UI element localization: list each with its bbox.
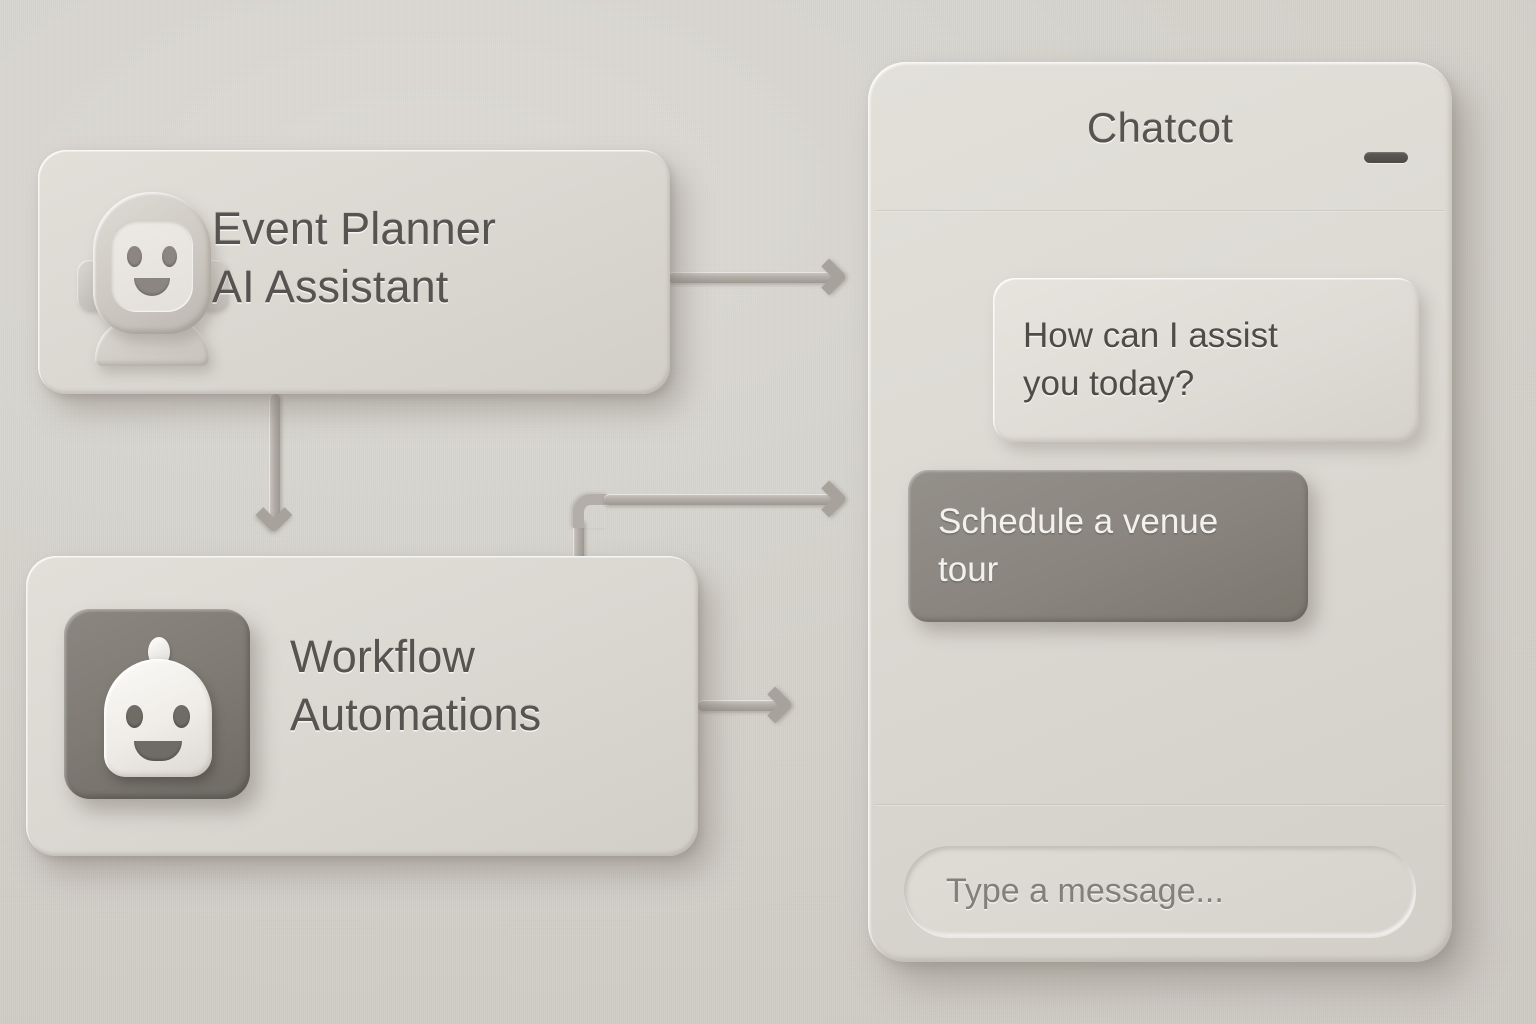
input-divider <box>876 804 1444 806</box>
bot-eye-left <box>126 705 143 728</box>
assistant-card-title: Event Planner AI Assistant <box>212 200 496 316</box>
bot-eye-right <box>173 705 190 728</box>
workflow-card-title: Workflow Automations <box>290 628 541 744</box>
arrow-head-icon <box>811 481 848 518</box>
chat-bubble-incoming: How can I assist you today? <box>993 278 1419 442</box>
chat-header: Chatcot <box>868 62 1452 208</box>
bot-face-icon <box>102 637 214 777</box>
header-divider <box>876 210 1444 212</box>
connector-line-horizontal <box>604 494 840 505</box>
arrow-head-icon <box>757 687 794 724</box>
arrow-head-icon <box>256 497 293 534</box>
chat-panel: Chatcot How can I assist you today? Sche… <box>868 62 1452 962</box>
chat-bubble-outgoing: Schedule a venue tour <box>908 470 1308 622</box>
robot-smile <box>134 278 170 296</box>
canvas-background: Event Planner AI Assistant Workflow Auto… <box>0 0 1536 1024</box>
chat-title: Chatcot <box>868 104 1452 152</box>
robot-face-panel <box>111 220 193 312</box>
robot-assistant-avatar-icon <box>76 186 228 366</box>
chat-message-list: How can I assist you today? Schedule a v… <box>868 220 1452 800</box>
bot-smile <box>134 741 182 761</box>
robot-helmet <box>93 192 211 334</box>
connector-corner <box>573 494 607 528</box>
robot-eye-right <box>162 246 177 267</box>
workflow-icon-tile <box>64 609 250 799</box>
bot-head <box>104 659 212 777</box>
message-input[interactable]: Type a message... <box>904 846 1416 936</box>
arrow-head-icon <box>811 259 848 296</box>
robot-eye-left <box>127 246 142 267</box>
minimize-icon[interactable] <box>1364 152 1408 163</box>
